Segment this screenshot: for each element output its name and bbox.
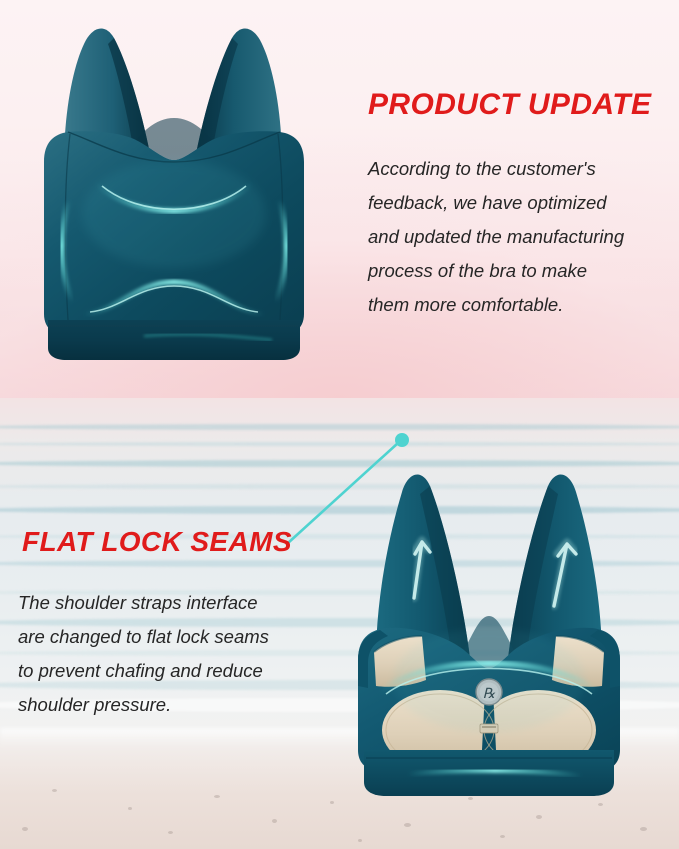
sand-speck <box>272 819 277 823</box>
body-line: feedback, we have optimized <box>368 186 668 220</box>
sand-speck <box>640 827 647 831</box>
sand-speck <box>404 823 411 827</box>
sand-speck <box>500 835 505 838</box>
body-line: The shoulder straps interface <box>18 586 328 620</box>
sand-speck <box>536 815 542 819</box>
sand-speck <box>22 827 28 831</box>
sand-speck <box>358 839 362 842</box>
top-panel: PRODUCT UPDATE According to the customer… <box>0 0 679 400</box>
bottom-panel-body: The shoulder straps interface are change… <box>18 586 328 722</box>
sand-speck <box>52 789 57 792</box>
body-line: process of the bra to make <box>368 254 668 288</box>
sand-speck <box>128 807 132 810</box>
body-line: According to the customer's <box>368 152 668 186</box>
flat-lock-seam-pointer <box>280 425 420 555</box>
body-line: are changed to flat lock seams <box>18 620 328 654</box>
sports-bra-front-view <box>24 14 324 364</box>
sand-speck <box>598 803 603 806</box>
body-line: them more comfortable. <box>368 288 668 322</box>
body-line: to prevent chafing and reduce <box>18 654 328 688</box>
body-line: and updated the manufacturing <box>368 220 668 254</box>
bottom-panel-heading: FLAT LOCK SEAMS <box>22 526 292 558</box>
sand-speck <box>168 831 173 834</box>
body-line: shoulder pressure. <box>18 688 328 722</box>
top-panel-heading: PRODUCT UPDATE <box>368 88 651 122</box>
top-panel-body: According to the customer's feedback, we… <box>368 152 668 322</box>
product-update-poster: PRODUCT UPDATE According to the customer… <box>0 0 679 849</box>
sand-speck <box>214 795 220 798</box>
